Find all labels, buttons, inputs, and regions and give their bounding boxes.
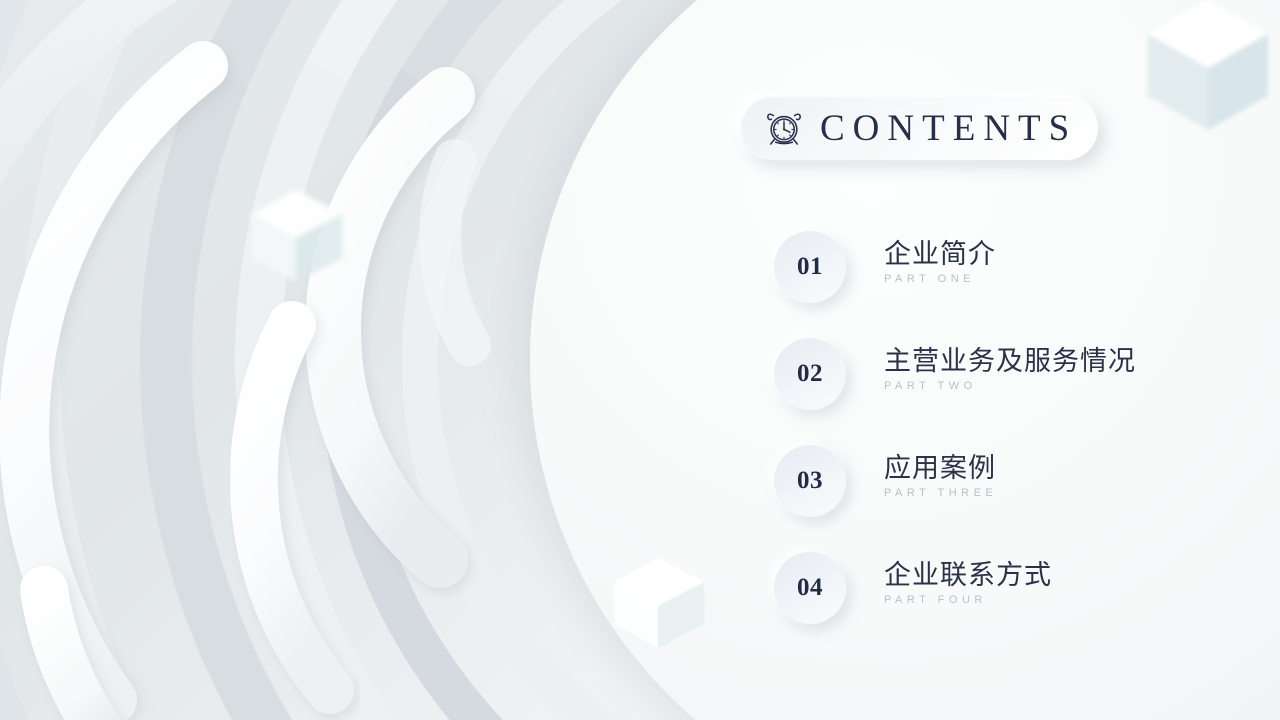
contents-item-03-number: 03 [797, 467, 823, 495]
contents-item-01[interactable]: 01 企业简介 PART ONE [774, 231, 1244, 338]
contents-item-04-number-badge: 04 [774, 552, 846, 624]
contents-item-03[interactable]: 03 应用案例 PART THREE [774, 445, 1244, 552]
contents-item-01-text: 企业简介 PART ONE [884, 237, 996, 285]
contents-item-02-number: 02 [797, 360, 823, 388]
contents-item-04-number: 04 [797, 574, 823, 602]
contents-item-03-number-badge: 03 [774, 445, 846, 517]
cube-mid-left-icon [238, 178, 358, 293]
contents-item-04[interactable]: 04 企业联系方式 PART FOUR [774, 552, 1244, 659]
contents-title-text: CONTENTS [820, 107, 1077, 150]
contents-item-04-title: 企业联系方式 [884, 558, 1052, 592]
slide-canvas: CONTENTS 01 企业简介 PART ONE 02 主营业务及服务情况 P… [0, 0, 1280, 720]
alarm-clock-icon [762, 106, 806, 150]
contents-item-04-subtitle: PART FOUR [884, 594, 1052, 606]
contents-item-01-number: 01 [797, 253, 823, 281]
contents-item-02[interactable]: 02 主营业务及服务情况 PART TWO [774, 338, 1244, 445]
contents-item-02-title: 主营业务及服务情况 [884, 344, 1136, 378]
cube-top-right-icon [1126, 0, 1280, 142]
contents-header-pill: CONTENTS [740, 96, 1098, 160]
contents-item-02-number-badge: 02 [774, 338, 846, 410]
contents-item-02-subtitle: PART TWO [884, 380, 1136, 392]
contents-item-01-number-badge: 01 [774, 231, 846, 303]
contents-item-02-text: 主营业务及服务情况 PART TWO [884, 344, 1136, 392]
contents-list: 01 企业简介 PART ONE 02 主营业务及服务情况 PART TWO 0… [774, 231, 1244, 659]
contents-item-01-subtitle: PART ONE [884, 273, 996, 285]
contents-item-03-title: 应用案例 [884, 451, 997, 485]
cube-bottom-center-icon [604, 548, 716, 656]
contents-item-04-text: 企业联系方式 PART FOUR [884, 558, 1052, 606]
contents-item-01-title: 企业简介 [884, 237, 996, 271]
contents-item-03-text: 应用案例 PART THREE [884, 451, 997, 499]
contents-item-03-subtitle: PART THREE [884, 487, 997, 499]
